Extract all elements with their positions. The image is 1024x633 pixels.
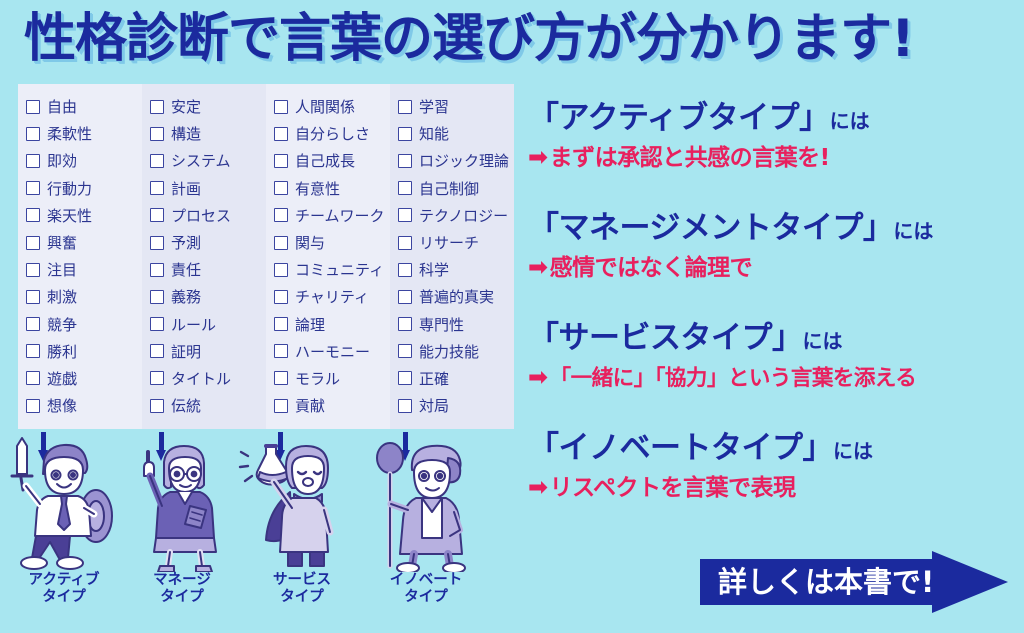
checklist-item[interactable]: ハーモニー [274, 338, 390, 365]
checklist-item-label: 論理 [295, 314, 325, 335]
checkbox-icon[interactable] [26, 181, 40, 195]
checklist-item-label: タイトル [171, 368, 231, 389]
checkbox-icon[interactable] [26, 399, 40, 413]
type-title-service: 「サービスタイプ」には [528, 318, 1024, 361]
checklist-item-label: 責任 [171, 259, 201, 280]
checkbox-icon[interactable] [26, 344, 40, 358]
checklist-item[interactable]: 自己制御 [398, 175, 514, 202]
arrow-right-icon: ➡ [528, 473, 548, 501]
checkbox-icon[interactable] [26, 154, 40, 168]
checkbox-icon[interactable] [26, 100, 40, 114]
checklist-item-label: 自己制御 [419, 178, 479, 199]
checklist-item-label: 即効 [47, 150, 77, 171]
checkbox-icon[interactable] [274, 236, 288, 250]
checkbox-icon[interactable] [398, 236, 412, 250]
checklist-item-label: 楽天性 [47, 205, 92, 226]
checkbox-icon[interactable] [26, 127, 40, 141]
checklist-item[interactable]: 伝統 [150, 392, 266, 419]
advice-text: 「一緒に」「協力」という言葉を添える [550, 366, 917, 391]
checklist-item[interactable]: 構造 [150, 120, 266, 147]
checklist-item[interactable]: 自由 [26, 93, 142, 120]
checklist-item-label: 証明 [171, 341, 201, 362]
checkbox-icon[interactable] [26, 371, 40, 385]
checklist-item[interactable]: 注目 [26, 256, 142, 283]
checkbox-icon[interactable] [274, 154, 288, 168]
poster-canvas: 性格診断で言葉の選び方が分かります! 自由 柔軟性 即効 行動力 楽天性 興奮 … [0, 0, 1024, 633]
type-name: 「イノベートタイプ」 [528, 430, 833, 466]
checkbox-icon[interactable] [150, 399, 164, 413]
checklist-item[interactable]: コミュニティ [274, 256, 390, 283]
checkbox-icon[interactable] [150, 344, 164, 358]
checklist-item-label: 想像 [47, 395, 77, 416]
checklist-item[interactable]: 有意性 [274, 175, 390, 202]
type-name: 「マネージメントタイプ」 [528, 210, 893, 246]
checklist-item-label: 行動力 [47, 178, 92, 199]
checkbox-icon[interactable] [398, 344, 412, 358]
checklist-item-label: 普遍的真実 [419, 286, 494, 307]
checkbox-icon[interactable] [150, 127, 164, 141]
checklist-item[interactable]: モラル [274, 365, 390, 392]
checklist-item-label: 注目 [47, 259, 77, 280]
checkbox-icon[interactable] [274, 100, 288, 114]
character-manage: マネージ タイプ [118, 432, 246, 633]
checklist-item-label: 遊戯 [47, 368, 77, 389]
checklist-item[interactable]: 勝利 [26, 338, 142, 365]
type-advice-service: ➡「一緒に」「協力」という言葉を添える [528, 361, 1024, 395]
type-block-service: 「サービスタイプ」には ➡「一緒に」「協力」という言葉を添える [528, 318, 1024, 395]
checklist-item[interactable]: 行動力 [26, 175, 142, 202]
checklist-item[interactable]: 責任 [150, 256, 266, 283]
checkbox-icon[interactable] [150, 317, 164, 331]
checkbox-icon[interactable] [274, 181, 288, 195]
checkbox-icon[interactable] [274, 127, 288, 141]
checkbox-icon[interactable] [26, 290, 40, 304]
page-title: 性格診断で言葉の選び方が分かります! [24, 6, 1014, 72]
checklist-item[interactable]: 学習 [398, 93, 514, 120]
checklist-item-label: 知能 [419, 123, 449, 144]
checklist-item[interactable]: 想像 [26, 392, 142, 419]
type-advice-active: ➡まずは承認と共感の言葉を! [528, 141, 1024, 174]
checklist-item-label: 人間関係 [295, 96, 355, 117]
checklist-item[interactable]: 関与 [274, 229, 390, 256]
checklist-item[interactable]: チャリティ [274, 283, 390, 310]
checkbox-icon[interactable] [274, 371, 288, 385]
character-service: サービス タイプ [238, 432, 366, 633]
checkbox-icon[interactable] [150, 371, 164, 385]
manager-glasses-pointing-icon [118, 432, 246, 572]
checklist-item[interactable]: 計画 [150, 175, 266, 202]
checkbox-icon[interactable] [274, 317, 288, 331]
checkbox-icon[interactable] [26, 317, 40, 331]
checklist-item-label: 安定 [171, 96, 201, 117]
type-advice-innovate: ➡リスペクトを言葉で表現 [528, 471, 1024, 504]
checkbox-icon[interactable] [398, 208, 412, 222]
checklist-column-manage: 安定 構造 システム 計画 プロセス 予測 責任 義務 ルール 証明 タイトル … [142, 84, 266, 429]
cta-label: 詳しくは本書で! [718, 559, 948, 605]
character-label: マネージ タイプ [118, 572, 246, 606]
type-title-innovate: 「イノベートタイプ」には [528, 428, 1024, 471]
type-suffix: には [833, 439, 873, 463]
checklist-item[interactable]: 貢献 [274, 392, 390, 419]
checklist-item[interactable]: タイトル [150, 365, 266, 392]
arrow-right-icon: ➡ [528, 253, 548, 281]
type-suffix: には [803, 329, 843, 353]
checklist-item-label: 競争 [47, 314, 77, 335]
type-suffix: には [893, 219, 933, 243]
type-block-manage: 「マネージメントタイプ」には ➡感情ではなく論理で [528, 208, 1024, 284]
advice-text: リスペクトを言葉で表現 [550, 475, 796, 501]
checkbox-icon[interactable] [398, 317, 412, 331]
checklist-item-label: 柔軟性 [47, 123, 92, 144]
checkbox-icon[interactable] [150, 263, 164, 277]
checklist-item[interactable]: テクノロジー [398, 202, 514, 229]
checklist-item-label: 学習 [419, 96, 449, 117]
checkbox-icon[interactable] [150, 154, 164, 168]
checklist-item-label: 予測 [171, 232, 201, 253]
checklist-item-label: システム [171, 150, 231, 171]
service-cape-flask-icon [238, 432, 366, 572]
checklist-item[interactable]: チームワーク [274, 202, 390, 229]
checkbox-icon[interactable] [150, 236, 164, 250]
checklist-item-label: テクノロジー [419, 205, 508, 226]
checkbox-icon[interactable] [150, 181, 164, 195]
checkbox-icon[interactable] [150, 100, 164, 114]
type-name: 「サービスタイプ」 [528, 320, 803, 356]
checklist-item[interactable]: 柔軟性 [26, 120, 142, 147]
checklist-item[interactable]: リサーチ [398, 229, 514, 256]
checklist-item[interactable]: 論理 [274, 311, 390, 338]
innovator-staff-icon [362, 432, 490, 572]
checklist-item-label: ルール [171, 314, 216, 335]
type-block-innovate: 「イノベートタイプ」には ➡リスペクトを言葉で表現 [528, 428, 1024, 504]
checklist-item-label: プロセス [171, 205, 231, 226]
checklist-item[interactable]: 人間関係 [274, 93, 390, 120]
character-active: アクティブ タイプ [0, 432, 128, 633]
checklist-item-label: 関与 [295, 232, 325, 253]
checklist-item[interactable]: 科学 [398, 256, 514, 283]
checklist-item[interactable]: 知能 [398, 120, 514, 147]
checklist-column-innovate: 学習 知能 ロジック理論 自己制御 テクノロジー リサーチ 科学 普遍的真実 専… [390, 84, 514, 429]
checklist-item-label: 貢献 [295, 395, 325, 416]
advice-text: まずは承認と共感の言葉を! [550, 145, 830, 171]
arrow-right-icon: ➡ [528, 363, 548, 391]
checkbox-icon[interactable] [274, 344, 288, 358]
checklist-item-label: 勝利 [47, 341, 77, 362]
character-innovate: イノベート タイプ [362, 432, 490, 633]
checklist-item[interactable]: 遊戯 [26, 365, 142, 392]
checklist-item-label: チームワーク [295, 205, 385, 226]
checklist-item[interactable]: 専門性 [398, 311, 514, 338]
type-name: 「アクティブタイプ」 [528, 100, 830, 136]
checkbox-icon[interactable] [398, 154, 412, 168]
character-row: アクティブ タイプ [0, 432, 516, 633]
checklist-item[interactable]: 義務 [150, 283, 266, 310]
checklist-column-service: 人間関係 自分らしさ 自己成長 有意性 チームワーク 関与 コミュニティ チャリ… [266, 84, 390, 429]
arrow-right-icon: ➡ [528, 143, 548, 171]
checklist-item[interactable]: 競争 [26, 311, 142, 338]
checklist-item-label: 科学 [419, 259, 449, 280]
checklist-item[interactable]: 楽天性 [26, 202, 142, 229]
checkbox-icon[interactable] [398, 371, 412, 385]
type-block-active: 「アクティブタイプ」には ➡まずは承認と共感の言葉を! [528, 98, 1024, 174]
type-advice-manage: ➡感情ではなく論理で [528, 251, 1024, 284]
checklist-item-label: コミュニティ [295, 259, 384, 280]
checkbox-icon[interactable] [26, 208, 40, 222]
checklist-item-label: 能力技能 [419, 341, 479, 362]
checklist-item[interactable]: 能力技能 [398, 338, 514, 365]
checklist-item[interactable]: 自分らしさ [274, 120, 390, 147]
checkbox-icon[interactable] [398, 399, 412, 413]
checklist-item[interactable]: 自己成長 [274, 147, 390, 174]
checkbox-icon[interactable] [398, 290, 412, 304]
checklist-item[interactable]: ロジック理論 [398, 147, 514, 174]
checklist-item-label: 自由 [47, 96, 77, 117]
checklist-item[interactable]: 予測 [150, 229, 266, 256]
checklist-item-label: 専門性 [419, 314, 464, 335]
checklist-item-label: 自分らしさ [295, 123, 370, 144]
checkbox-icon[interactable] [274, 208, 288, 222]
checklist-item-label: ハーモニー [295, 341, 370, 362]
checklist-item-label: チャリティ [295, 286, 369, 307]
advice-text: 感情ではなく論理で [550, 255, 753, 281]
checklist-item-label: 正確 [419, 368, 449, 389]
checkbox-icon[interactable] [26, 263, 40, 277]
type-title-active: 「アクティブタイプ」には [528, 98, 1024, 141]
checklist-item[interactable]: 刺激 [26, 283, 142, 310]
checklist-column-active: 自由 柔軟性 即効 行動力 楽天性 興奮 注目 刺激 競争 勝利 遊戯 想像 [18, 84, 142, 429]
checklist-item-label: 有意性 [295, 178, 340, 199]
checklist-item[interactable]: 興奮 [26, 229, 142, 256]
checklist-item[interactable]: 証明 [150, 338, 266, 365]
checkbox-icon[interactable] [398, 127, 412, 141]
checklist-item-label: 自己成長 [295, 150, 355, 171]
type-title-manage: 「マネージメントタイプ」には [528, 208, 1024, 251]
checklist-item-label: 対局 [419, 395, 449, 416]
checkbox-icon[interactable] [274, 263, 288, 277]
character-label: イノベート タイプ [362, 572, 490, 606]
checkbox-icon[interactable] [398, 263, 412, 277]
type-suffix: には [830, 109, 870, 133]
checklist-item[interactable]: 正確 [398, 365, 514, 392]
keyword-checklist-panel: 自由 柔軟性 即効 行動力 楽天性 興奮 注目 刺激 競争 勝利 遊戯 想像 安… [18, 84, 514, 429]
checklist-item[interactable]: 即効 [26, 147, 142, 174]
checklist-item-label: 伝統 [171, 395, 201, 416]
checklist-item[interactable]: 安定 [150, 93, 266, 120]
checklist-item[interactable]: 普遍的真実 [398, 283, 514, 310]
checklist-item[interactable]: 対局 [398, 392, 514, 419]
character-label: アクティブ タイプ [0, 572, 128, 606]
checkbox-icon[interactable] [274, 399, 288, 413]
checklist-item-label: ロジック理論 [419, 150, 509, 171]
checkbox-icon[interactable] [274, 290, 288, 304]
checklist-item-label: 刺激 [47, 286, 77, 307]
checklist-item[interactable]: プロセス [150, 202, 266, 229]
checkbox-icon[interactable] [398, 181, 412, 195]
checkbox-icon[interactable] [26, 236, 40, 250]
checkbox-icon[interactable] [150, 208, 164, 222]
checklist-item-label: モラル [295, 368, 340, 389]
character-label: サービス タイプ [238, 572, 366, 606]
checklist-item-label: 構造 [171, 123, 201, 144]
warrior-sword-shield-icon [0, 432, 128, 572]
checklist-item[interactable]: ルール [150, 311, 266, 338]
checklist-item-label: 義務 [171, 286, 201, 307]
checklist-item-label: 計画 [171, 178, 201, 199]
checklist-item[interactable]: システム [150, 147, 266, 174]
checklist-item-label: リサーチ [419, 232, 479, 253]
cta-arrow-banner[interactable]: 詳しくは本書で! [700, 551, 1012, 613]
checklist-item-label: 興奮 [47, 232, 77, 253]
checkbox-icon[interactable] [398, 100, 412, 114]
checkbox-icon[interactable] [150, 290, 164, 304]
